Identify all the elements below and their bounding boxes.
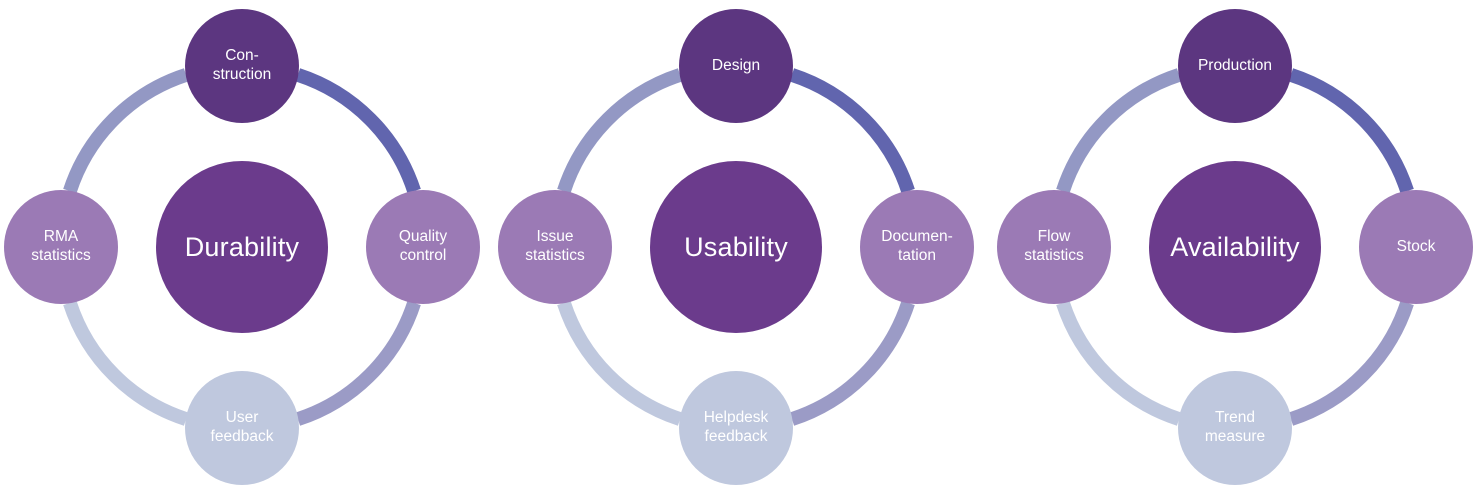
satellite-durability-right[interactable]: Quality control: [366, 190, 480, 304]
satellite-availability-top[interactable]: Production: [1178, 9, 1292, 123]
satellite-label: Trend measure: [1199, 409, 1271, 446]
satellite-availability-right[interactable]: Stock: [1359, 190, 1473, 304]
satellite-usability-top[interactable]: Design: [679, 9, 793, 123]
arc-bottom-left: [70, 303, 186, 419]
arc-top-right: [792, 75, 908, 191]
hub-label: Usability: [678, 231, 794, 263]
satellite-label: Helpdesk feedback: [698, 409, 775, 446]
satellite-label: Documen- tation: [875, 228, 959, 265]
satellite-label: Quality control: [393, 228, 453, 265]
arc-bottom-right: [1291, 303, 1407, 419]
arc-top-left: [70, 75, 186, 191]
arc-top-left: [1063, 75, 1179, 191]
satellite-label: User feedback: [205, 409, 280, 446]
satellite-label: Con- struction: [207, 47, 278, 84]
satellite-label: Stock: [1391, 238, 1442, 257]
satellite-durability-left[interactable]: RMA statistics: [4, 190, 118, 304]
quality-attributes-diagram: Con- structionQuality controlUser feedba…: [0, 0, 1478, 491]
cluster-availability: ProductionStockTrend measureFlow statist…: [993, 0, 1478, 491]
satellite-label: Production: [1192, 57, 1278, 76]
arc-top-right: [1291, 75, 1407, 191]
cluster-durability: Con- structionQuality controlUser feedba…: [0, 0, 492, 491]
hub-durability[interactable]: Durability: [156, 161, 328, 333]
arc-bottom-right: [298, 303, 414, 419]
cluster-usability: DesignDocumen- tationHelpdesk feedbackIs…: [494, 0, 986, 491]
satellite-availability-left[interactable]: Flow statistics: [997, 190, 1111, 304]
satellite-usability-bottom[interactable]: Helpdesk feedback: [679, 371, 793, 485]
arc-bottom-left: [1063, 303, 1179, 419]
arc-bottom-right: [792, 303, 908, 419]
satellite-usability-left[interactable]: Issue statistics: [498, 190, 612, 304]
hub-label: Durability: [179, 231, 306, 263]
hub-usability[interactable]: Usability: [650, 161, 822, 333]
satellite-durability-bottom[interactable]: User feedback: [185, 371, 299, 485]
satellite-label: Issue statistics: [519, 228, 590, 265]
hub-label: Availability: [1164, 231, 1305, 263]
satellite-availability-bottom[interactable]: Trend measure: [1178, 371, 1292, 485]
arc-top-right: [298, 75, 414, 191]
arc-bottom-left: [564, 303, 680, 419]
satellite-label: Flow statistics: [1018, 228, 1089, 265]
satellite-durability-top[interactable]: Con- struction: [185, 9, 299, 123]
satellite-label: RMA statistics: [25, 228, 96, 265]
satellite-label: Design: [706, 57, 766, 76]
hub-availability[interactable]: Availability: [1149, 161, 1321, 333]
arc-top-left: [564, 75, 680, 191]
satellite-usability-right[interactable]: Documen- tation: [860, 190, 974, 304]
